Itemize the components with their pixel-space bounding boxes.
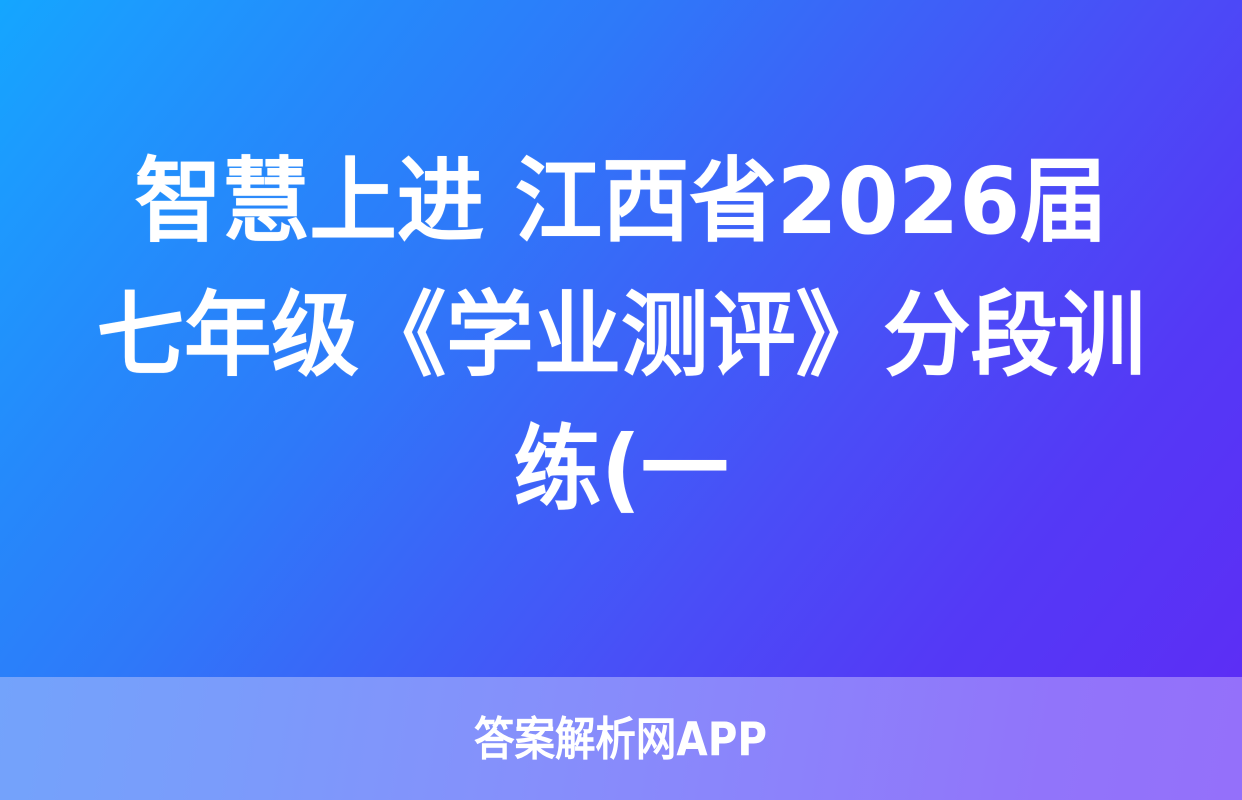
- footer-brand-bar[interactable]: 答案解析网APP: [0, 677, 1242, 800]
- hero-banner: 智慧上进 江西省2026届七年级《学业测评》分段训练(一: [0, 0, 1242, 677]
- share-card: 智慧上进 江西省2026届七年级《学业测评》分段训练(一 答案解析网APP: [0, 0, 1242, 800]
- page-title: 智慧上进 江西省2026届七年级《学业测评》分段训练(一: [94, 135, 1149, 543]
- app-brand-label: 答案解析网APP: [474, 714, 767, 764]
